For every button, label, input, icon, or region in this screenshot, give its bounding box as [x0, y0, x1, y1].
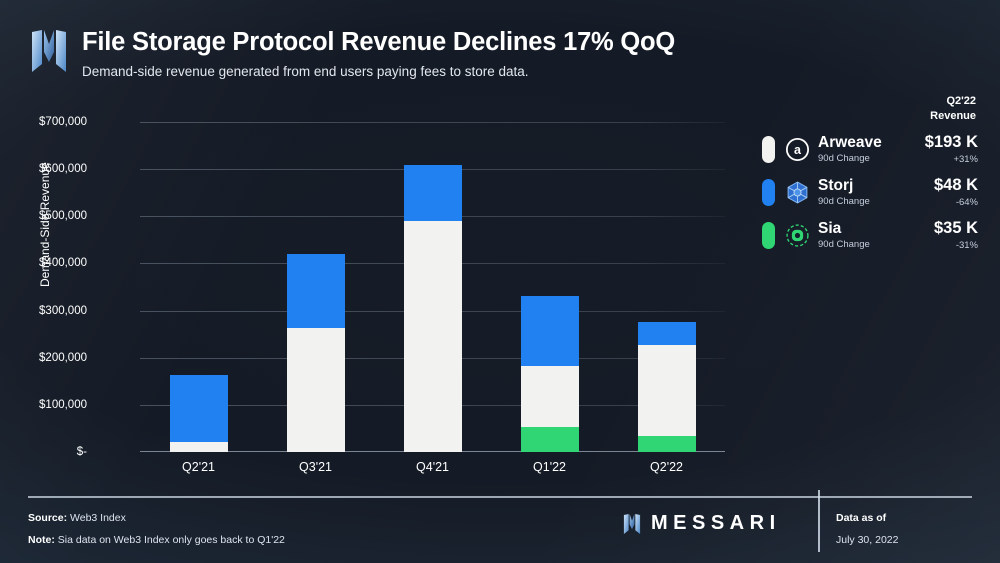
bar-segment-storj[interactable]	[521, 296, 579, 365]
page-title: File Storage Protocol Revenue Declines 1…	[82, 28, 675, 56]
x-axis-tick-label: Q1'22	[533, 460, 566, 474]
bar-segment-storj[interactable]	[404, 165, 462, 221]
legend-asset-name: Arweave	[818, 135, 925, 151]
y-axis-tick-label: $300,000	[39, 305, 87, 317]
footer-vertical-divider	[818, 490, 820, 552]
bar-segment-arweave[interactable]	[521, 366, 579, 427]
note-value: Sia data on Web3 Index only goes back to…	[58, 534, 285, 546]
y-axis-tick-label: $400,000	[39, 257, 87, 269]
legend-revenue-value: $48 K	[934, 177, 978, 194]
page-subtitle: Demand-side revenue generated from end u…	[82, 64, 675, 79]
legend-change-label: 90d Change	[818, 153, 925, 164]
legend-row-arweave[interactable]: aArweave90d Change$193 K+31%	[762, 133, 978, 167]
bar-column[interactable]	[638, 122, 696, 452]
legend-swatch	[762, 179, 775, 206]
note-line: Note: Sia data on Web3 Index only goes b…	[28, 530, 285, 552]
data-as-of-value: July 30, 2022	[836, 530, 898, 552]
bar-series	[140, 122, 725, 452]
legend-row-sia[interactable]: Sia90d Change$35 K-31%	[762, 219, 978, 253]
x-axis-tick-label: Q2'22	[650, 460, 683, 474]
x-axis-tick-label: Q3'21	[299, 460, 332, 474]
y-axis-tick-label: $100,000	[39, 399, 87, 411]
legend-header-metric: Revenue	[762, 109, 976, 124]
footer-notes: Source: Web3 Index Note: Sia data on Web…	[28, 508, 285, 551]
legend-swatch	[762, 136, 775, 163]
bar-segment-storj[interactable]	[170, 375, 228, 441]
bar-column[interactable]	[170, 122, 228, 452]
data-as-of: Data as of July 30, 2022	[836, 508, 898, 551]
x-axis-tick-label: Q4'21	[416, 460, 449, 474]
bar-segment-sia[interactable]	[521, 427, 579, 452]
legend-change-value: -64%	[934, 197, 978, 208]
legend-swatch	[762, 222, 775, 249]
messari-brand: MESSARI	[620, 512, 781, 535]
legend-change-value: -31%	[934, 240, 978, 251]
legend-change-label: 90d Change	[818, 196, 934, 207]
source-line: Source: Web3 Index	[28, 508, 285, 530]
y-axis-tick-label: $-	[77, 446, 87, 458]
data-as-of-label: Data as of	[836, 512, 886, 524]
bar-segment-arweave[interactable]	[170, 442, 228, 452]
bar-segment-sia[interactable]	[638, 436, 696, 453]
x-axis-tick-label: Q2'21	[182, 460, 215, 474]
y-axis-tick-label: $700,000	[39, 116, 87, 128]
legend-change-value: +31%	[925, 154, 978, 165]
header: File Storage Protocol Revenue Declines 1…	[32, 28, 675, 79]
source-label: Source:	[28, 512, 67, 524]
legend-row-storj[interactable]: Storj90d Change$48 K-64%	[762, 176, 978, 210]
sia-icon	[785, 223, 810, 248]
bar-segment-storj[interactable]	[287, 254, 345, 328]
y-axis-tick-label: $500,000	[39, 210, 87, 222]
arweave-icon: a	[785, 137, 810, 162]
storj-icon	[785, 180, 810, 205]
bar-column[interactable]	[404, 122, 462, 452]
svg-text:a: a	[794, 143, 802, 157]
legend-header-period: Q2'22	[762, 94, 976, 109]
legend-revenue-value: $35 K	[934, 220, 978, 237]
bar-segment-arweave[interactable]	[638, 345, 696, 436]
messari-logo-icon	[620, 514, 644, 534]
chart-plot-area: $-$100,000$200,000$300,000$400,000$500,0…	[140, 122, 725, 452]
bar-column[interactable]	[287, 122, 345, 452]
bar-column[interactable]	[521, 122, 579, 452]
y-axis-tick-label: $600,000	[39, 163, 87, 175]
legend: Q2'22 Revenue aArweave90d Change$193 K+3…	[762, 94, 978, 253]
bar-segment-arweave[interactable]	[287, 328, 345, 452]
note-label: Note:	[28, 534, 55, 546]
bar-segment-storj[interactable]	[638, 322, 696, 344]
source-value: Web3 Index	[70, 512, 126, 524]
legend-asset-name: Sia	[818, 221, 934, 237]
brand-wordmark: MESSARI	[651, 512, 781, 535]
legend-change-label: 90d Change	[818, 239, 934, 250]
messari-logo	[32, 30, 66, 72]
y-axis-tick-label: $200,000	[39, 352, 87, 364]
footer-divider	[28, 496, 972, 498]
legend-asset-name: Storj	[818, 178, 934, 194]
legend-header: Q2'22 Revenue	[762, 94, 978, 124]
legend-revenue-value: $193 K	[925, 134, 978, 151]
bar-segment-arweave[interactable]	[404, 221, 462, 452]
